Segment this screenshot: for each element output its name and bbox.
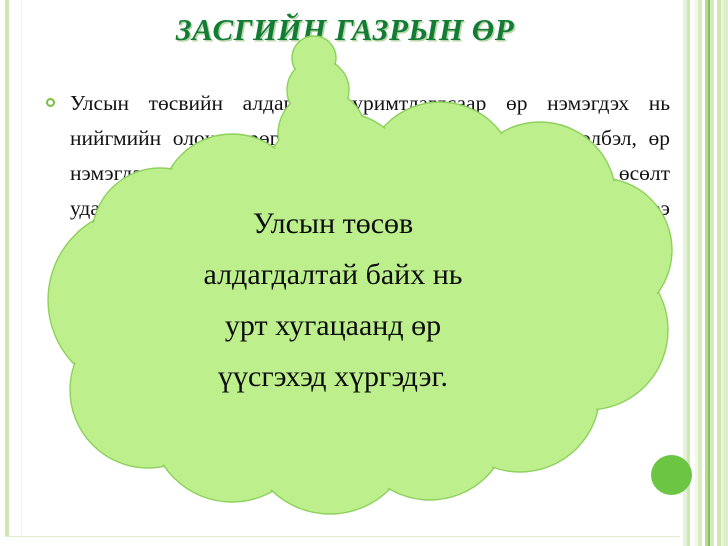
stripe-13: [724, 0, 728, 546]
accent-dot: [651, 455, 692, 495]
bullet-circle-icon: [46, 98, 55, 107]
page-title: ЗАСГИЙН ГАЗРЫН ӨР: [0, 12, 690, 48]
slide-canvas: ЗАСГИЙН ГАЗРЫН ӨР Улсын төсвийн алдагдал…: [0, 0, 728, 546]
callout-text: Улсын төсөвалдагдалтай байх ньурт хугаца…: [118, 198, 548, 402]
callout-line-1: алдагдалтай байх нь: [118, 249, 548, 300]
bottom-edge-hairline: [5, 536, 723, 537]
callout-line-2: урт хугацаанд өр: [118, 300, 548, 351]
left-edge-hairline: [21, 0, 22, 536]
callout-line-0: Улсын төсөв: [118, 198, 548, 249]
left-edge-rule: [5, 0, 9, 536]
callout-line-3: үүсгэхэд хүргэдэг.: [118, 351, 548, 402]
